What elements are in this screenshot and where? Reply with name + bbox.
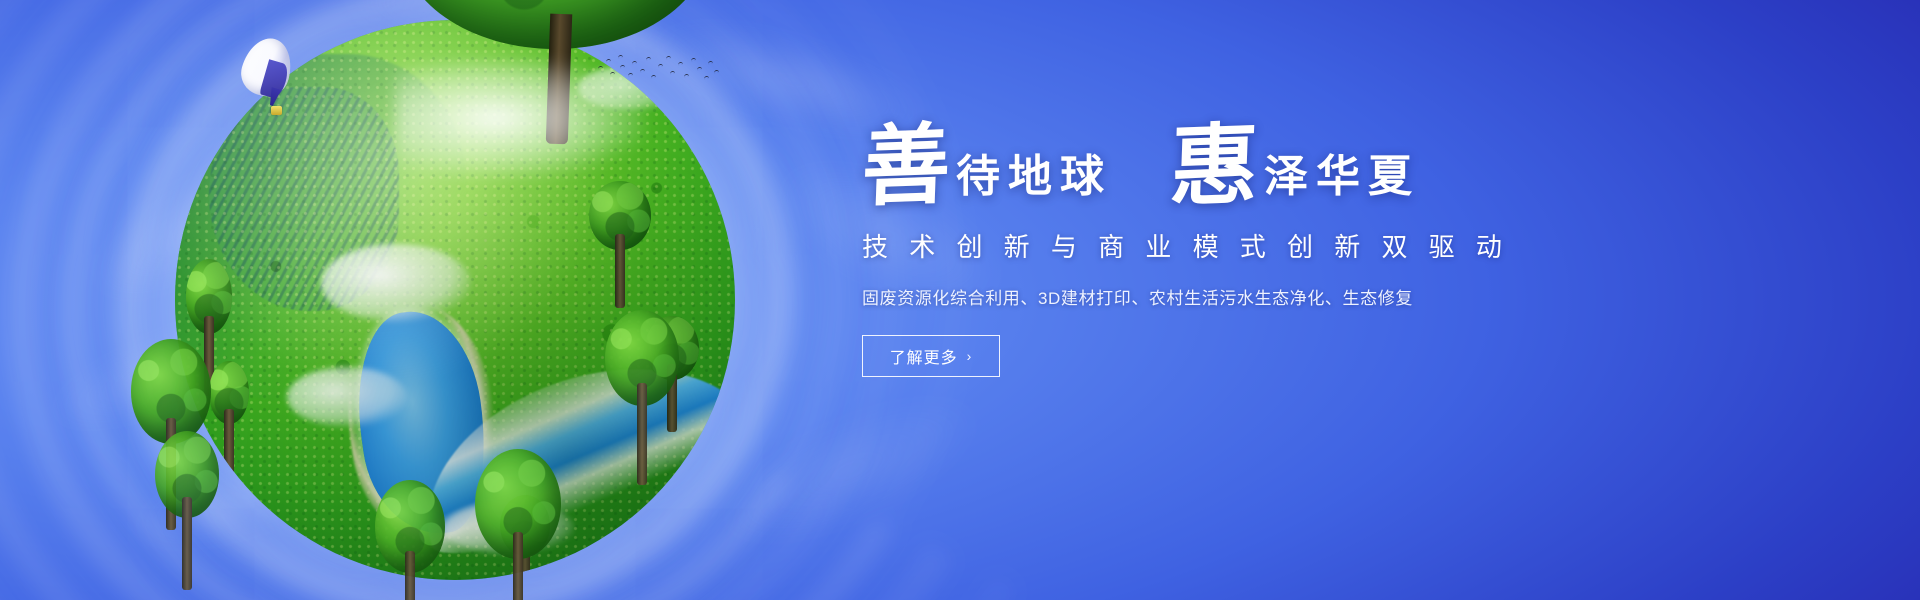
learn-more-button[interactable]: 了解更多 ›: [862, 335, 1000, 377]
river-shape: [396, 328, 735, 574]
headline-char-1: 善: [860, 126, 955, 210]
tree-icon: [475, 460, 561, 600]
headline-rest-2: 泽华夏: [1264, 155, 1420, 209]
cloud-icon: [321, 244, 471, 322]
page-subtitle: 技 术 创 新 与 商 业 模 式 创 新 双 驱 动: [862, 227, 1642, 264]
forest-ridge: [209, 87, 399, 311]
tree-icon: [375, 490, 445, 600]
cloud-icon: [287, 367, 407, 427]
hero-copy: 善 待地球 惠 泽华夏 技 术 创 新 与 商 业 模 式 创 新 双 驱 动 …: [862, 128, 1642, 377]
tree-icon: [155, 440, 219, 590]
page-title: 善 待地球 惠 泽华夏: [862, 128, 1642, 209]
headline-rest-1: 待地球: [956, 155, 1112, 209]
tree-icon: [589, 188, 651, 308]
chevron-right-icon: ›: [967, 348, 973, 364]
hot-air-balloon-icon: [243, 38, 291, 120]
headline-char-2: 惠: [1169, 126, 1264, 210]
bird-flock-icon: [596, 52, 721, 86]
tree-icon: [605, 320, 679, 485]
page-description: 固废资源化综合利用、3D建材打印、农村生活污水生态净化、生态修复: [862, 284, 1642, 309]
learn-more-label: 了解更多: [890, 344, 958, 368]
hero-banner: 善 待地球 惠 泽华夏 技 术 创 新 与 商 业 模 式 创 新 双 驱 动 …: [0, 0, 1920, 600]
